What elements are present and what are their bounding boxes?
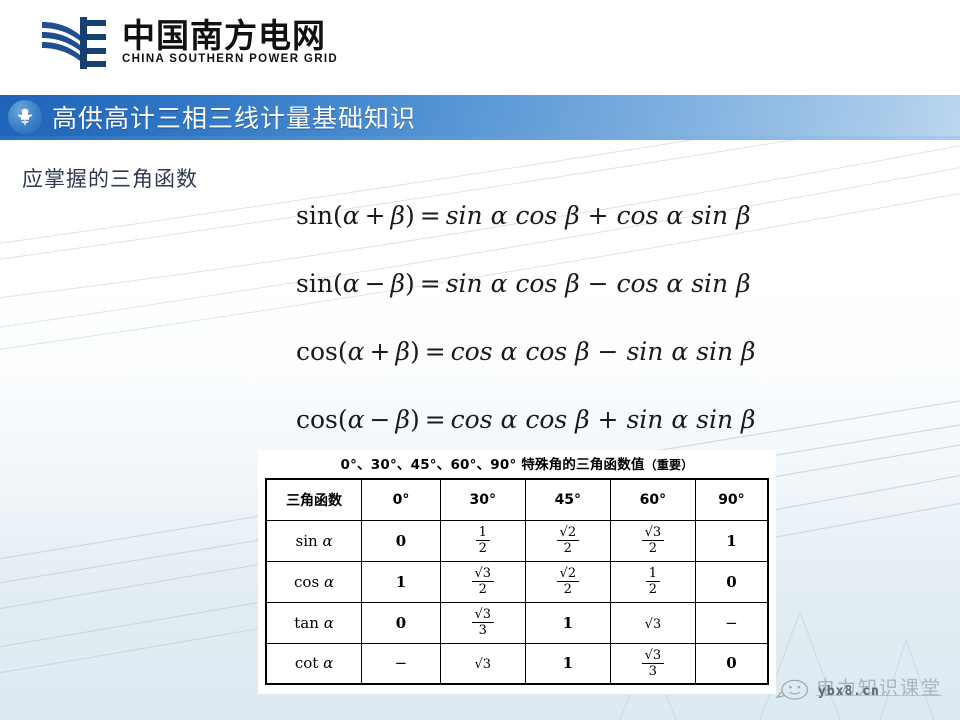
- fraction: 12: [476, 526, 490, 555]
- special-angles-table-panel: 0°、30°、45°、60°、90° 特殊角的三角函数值（重要） 三角函数 0°…: [258, 450, 776, 694]
- table-cell-value: 1: [695, 520, 768, 561]
- formula-lhs-open: (: [333, 269, 343, 298]
- formula-lhs-beta: β: [396, 337, 410, 366]
- fraction-numerator: √2: [557, 526, 580, 541]
- function-arg: α: [322, 532, 332, 550]
- slide-canvas: 中国南方电网 CHINA SOUTHERN POWER GRID 高供高计三相三…: [0, 0, 960, 720]
- formula-lhs-op: −: [365, 405, 396, 434]
- formula-lhs-close: ): [405, 269, 415, 298]
- fraction: √22: [557, 526, 580, 555]
- fraction-denominator: 2: [646, 582, 660, 596]
- formula-lhs-alpha: α: [343, 201, 360, 230]
- formula-lhs-beta: β: [396, 405, 410, 434]
- fraction: 12: [646, 567, 660, 596]
- formula-lhs-fn: cos: [296, 405, 338, 434]
- table-cell-function: sin α: [266, 520, 362, 561]
- fraction: √32: [642, 526, 665, 555]
- table-cell-value: √3: [440, 643, 525, 684]
- fraction-numerator: √3: [642, 649, 665, 664]
- function-name: tan: [294, 614, 319, 632]
- table-row: cot α−√31√330: [266, 643, 768, 684]
- formula-rhs: cos α cos β + sin α sin β: [451, 405, 756, 434]
- formula-rhs: sin α cos β + cos α sin β: [446, 201, 751, 230]
- fraction: √33: [642, 649, 665, 678]
- fraction-denominator: 3: [642, 664, 665, 678]
- function-name: sin: [296, 532, 318, 550]
- formula-lhs-beta: β: [391, 269, 405, 298]
- formula-equals: =: [415, 269, 446, 298]
- table-cell-value: 0: [695, 643, 768, 684]
- table-cell-value: 1: [525, 602, 610, 643]
- table-cell-value: 1: [362, 561, 441, 602]
- table-cell-value: √32: [610, 520, 695, 561]
- table-body: sin α012√22√321cos α1√32√22120tan α0√331…: [266, 520, 768, 684]
- formula-lhs-op: +: [365, 337, 396, 366]
- function-arg: α: [324, 614, 334, 632]
- table-header-function: 三角函数: [266, 479, 362, 520]
- table-cell-value: √33: [610, 643, 695, 684]
- function-name: cos: [294, 573, 319, 591]
- table-cell-value: −: [695, 602, 768, 643]
- table-row: tan α0√331√3−: [266, 602, 768, 643]
- formula-lhs-alpha: α: [348, 405, 365, 434]
- fraction-denominator: 3: [472, 623, 495, 637]
- function-arg: α: [324, 573, 334, 591]
- fraction-numerator: 1: [646, 567, 660, 582]
- site-watermark: 电力知识课堂 ybx8.cn: [776, 674, 942, 702]
- table-cell-value: 1: [525, 643, 610, 684]
- fraction-denominator: 2: [557, 541, 580, 555]
- formula-lhs-alpha: α: [343, 269, 360, 298]
- formula-lhs-close: ): [410, 405, 420, 434]
- formula-rhs: cos α cos β − sin α sin β: [451, 337, 756, 366]
- fraction-denominator: 2: [472, 582, 495, 596]
- formula-list: sin(α+β)=sin α cos β + cos α sin β sin(α…: [296, 182, 766, 454]
- table-cell-function: cos α: [266, 561, 362, 602]
- formula-lhs-open: (: [338, 337, 348, 366]
- formula-lhs-op: −: [360, 269, 391, 298]
- formula-sin-sum: sin(α+β)=sin α cos β + cos α sin β: [296, 182, 766, 250]
- table-cell-value: 0: [362, 602, 441, 643]
- fraction-numerator: √3: [472, 608, 495, 623]
- fraction-denominator: 2: [476, 541, 490, 555]
- table-cell-value: 12: [440, 520, 525, 561]
- formula-lhs-close: ): [405, 201, 415, 230]
- slide-title-bar: 高供高计三相三线计量基础知识: [0, 94, 960, 140]
- table-cell-value: √3: [610, 602, 695, 643]
- formula-lhs-alpha: α: [348, 337, 365, 366]
- fraction: √33: [472, 608, 495, 637]
- formula-lhs-fn: sin: [296, 269, 333, 298]
- radical: √3: [645, 617, 662, 632]
- formula-equals: =: [415, 201, 446, 230]
- watermark-text-cn: 电力知识课堂: [816, 679, 942, 698]
- fraction: √22: [557, 567, 580, 596]
- table-cell-function: tan α: [266, 602, 362, 643]
- table-cell-value: 0: [362, 520, 441, 561]
- table-cell-value: −: [362, 643, 441, 684]
- fraction-numerator: √3: [642, 526, 665, 541]
- formula-cos-diff: cos(α−β)=cos α cos β + sin α sin β: [296, 386, 766, 454]
- formula-equals: =: [420, 337, 451, 366]
- fraction-numerator: 1: [476, 526, 490, 541]
- table-caption: 0°、30°、45°、60°、90° 特殊角的三角函数值（重要）: [264, 454, 770, 476]
- southern-power-grid-logo-icon: [40, 14, 108, 70]
- table-header-30deg: 30°: [440, 479, 525, 520]
- fraction-denominator: 2: [642, 541, 665, 555]
- fraction-numerator: √3: [472, 567, 495, 582]
- table-cell-value: 0: [695, 561, 768, 602]
- formula-cos-sum: cos(α+β)=cos α cos β − sin α sin β: [296, 318, 766, 386]
- brand-name-cn: 中国南方电网: [122, 19, 338, 53]
- table-header-row: 三角函数 0° 30° 45° 60° 90°: [266, 479, 768, 520]
- flower-icon: [8, 100, 42, 134]
- table-caption-note: （重要）: [645, 458, 694, 472]
- smiley-circle-icon: [776, 674, 810, 702]
- formula-sin-diff: sin(α−β)=sin α cos β − cos α sin β: [296, 250, 766, 318]
- table-header-0deg: 0°: [362, 479, 441, 520]
- table-row: sin α012√22√321: [266, 520, 768, 561]
- table-cell-value: √33: [440, 602, 525, 643]
- table-cell-value: √22: [525, 561, 610, 602]
- table-header-60deg: 60°: [610, 479, 695, 520]
- table-caption-main: 特殊角的三角函数值: [521, 457, 644, 473]
- formula-equals: =: [420, 405, 451, 434]
- formula-lhs-op: +: [360, 201, 391, 230]
- formula-lhs-close: ): [410, 337, 420, 366]
- brand-logo: 中国南方电网 CHINA SOUTHERN POWER GRID: [40, 14, 338, 70]
- table-cell-value: 12: [610, 561, 695, 602]
- table-header-90deg: 90°: [695, 479, 768, 520]
- table-cell-function: cot α: [266, 643, 362, 684]
- fraction-denominator: 2: [557, 582, 580, 596]
- table-cell-value: √22: [525, 520, 610, 561]
- table-header-45deg: 45°: [525, 479, 610, 520]
- formula-lhs-fn: sin: [296, 201, 333, 230]
- table-caption-angles: 0°、30°、45°、60°、90°: [341, 457, 517, 473]
- formula-lhs-open: (: [333, 201, 343, 230]
- special-angles-table: 三角函数 0° 30° 45° 60° 90° sin α012√22√321c…: [265, 478, 769, 685]
- fraction-numerator: √2: [557, 567, 580, 582]
- section-subheading: 应掌握的三角函数: [22, 163, 198, 193]
- watermark-text-en: ybx8.cn: [818, 685, 942, 698]
- formula-lhs-fn: cos: [296, 337, 338, 366]
- table-row: cos α1√32√22120: [266, 561, 768, 602]
- function-name: cot: [295, 654, 318, 672]
- fraction: √32: [472, 567, 495, 596]
- page-title: 高供高计三相三线计量基础知识: [52, 99, 416, 135]
- radical: √3: [475, 657, 492, 672]
- formula-lhs-open: (: [338, 405, 348, 434]
- function-arg: α: [323, 654, 333, 672]
- formula-rhs: sin α cos β − cos α sin β: [446, 269, 751, 298]
- brand-name-en: CHINA SOUTHERN POWER GRID: [122, 54, 338, 66]
- table-cell-value: √32: [440, 561, 525, 602]
- formula-lhs-beta: β: [391, 201, 405, 230]
